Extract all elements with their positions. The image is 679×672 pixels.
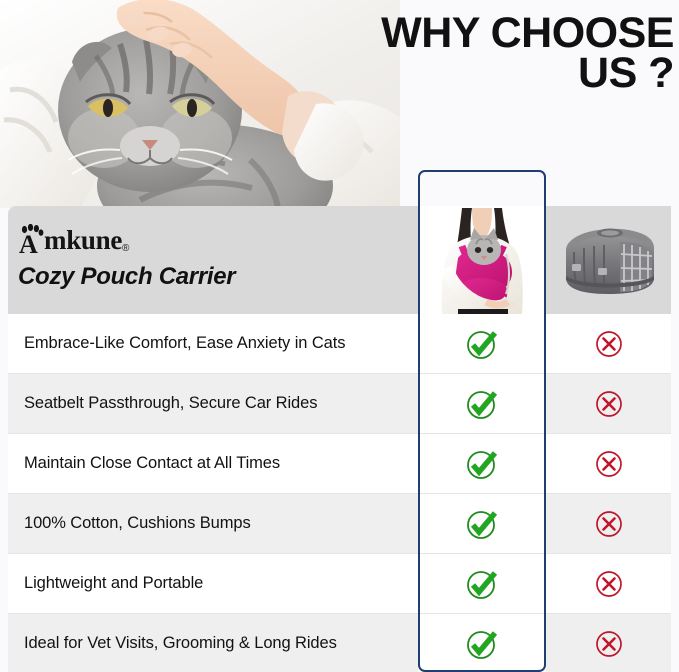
cross-circle-icon — [594, 509, 624, 539]
table-row: Maintain Close Contact at All Times — [8, 434, 671, 494]
our-product-image — [418, 206, 546, 314]
brand-block: A mkune ® Cozy Pouch Carrier — [18, 224, 408, 291]
competitor-cross-cell — [546, 614, 671, 672]
cross-circle-icon — [594, 569, 624, 599]
cross-circle-icon — [594, 629, 624, 659]
cross-circle-icon — [594, 449, 624, 479]
table-row: Lightweight and Portable — [8, 554, 671, 614]
competitor-cross-cell — [546, 554, 671, 613]
competitor-product-image — [546, 206, 671, 314]
check-circle-icon — [464, 506, 500, 542]
competitor-cross-cell — [546, 494, 671, 553]
our-check-cell — [418, 374, 546, 433]
our-check-cell — [418, 554, 546, 613]
feature-label: Maintain Close Contact at All Times — [8, 454, 418, 473]
comparison-table: A mkune ® Cozy Pouch Carrier — [8, 206, 671, 672]
competitor-cross-cell — [546, 434, 671, 493]
table-row: Embrace-Like Comfort, Ease Anxiety in Ca… — [8, 314, 671, 374]
table-row: 100% Cotton, Cushions Bumps — [8, 494, 671, 554]
comparison-infographic: WHY CHOOSE US ? A — [0, 0, 679, 672]
check-circle-icon — [464, 626, 500, 662]
check-circle-icon — [464, 326, 500, 362]
check-circle-icon — [464, 446, 500, 482]
check-circle-icon — [464, 386, 500, 422]
brand-name-row: A mkune ® — [18, 224, 408, 254]
our-check-cell — [418, 494, 546, 553]
paw-print-icon: A — [18, 224, 44, 254]
page-title-line2: US ? — [318, 54, 674, 94]
our-check-cell — [418, 614, 546, 672]
registered-trademark-symbol: ® — [122, 243, 129, 254]
competitor-cross-cell — [546, 374, 671, 433]
feature-label: Seatbelt Passthrough, Secure Car Rides — [8, 394, 418, 413]
table-row: Seatbelt Passthrough, Secure Car Rides — [8, 374, 671, 434]
feature-label: Lightweight and Portable — [8, 574, 418, 593]
brand-name: mkune — [44, 227, 122, 254]
feature-label: Embrace-Like Comfort, Ease Anxiety in Ca… — [8, 334, 418, 353]
table-header-row: A mkune ® Cozy Pouch Carrier — [8, 206, 671, 314]
our-check-cell — [418, 314, 546, 373]
cross-circle-icon — [594, 389, 624, 419]
check-circle-icon — [464, 566, 500, 602]
feature-label: 100% Cotton, Cushions Bumps — [8, 514, 418, 533]
product-line-name: Cozy Pouch Carrier — [18, 263, 408, 291]
page-title: WHY CHOOSE US ? — [318, 14, 674, 93]
cross-circle-icon — [594, 329, 624, 359]
competitor-cross-cell — [546, 314, 671, 373]
svg-text:A: A — [19, 230, 38, 254]
feature-label: Ideal for Vet Visits, Grooming & Long Ri… — [8, 634, 418, 653]
our-check-cell — [418, 434, 546, 493]
table-row: Ideal for Vet Visits, Grooming & Long Ri… — [8, 614, 671, 672]
